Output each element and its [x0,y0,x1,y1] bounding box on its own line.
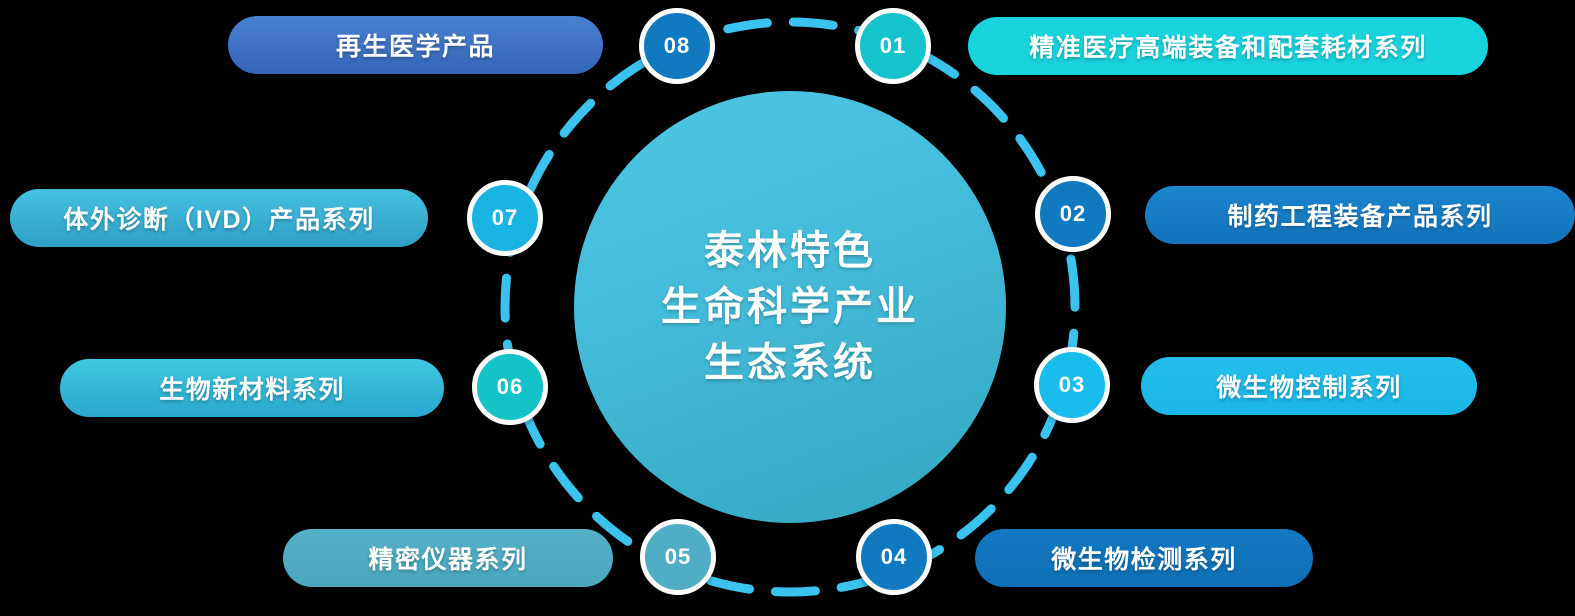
node-05-number: 05 [665,544,691,570]
node-08-number: 08 [664,33,690,59]
pill-04[interactable]: 微生物检测系列 [975,529,1313,587]
center-line-2: 生命科学产业 [661,286,919,328]
pill-06[interactable]: 生物新材料系列 [60,359,444,417]
pill-08[interactable]: 再生医学产品 [228,16,603,74]
pill-03-label: 微生物控制系列 [1216,368,1402,404]
node-03[interactable]: 03 [1034,347,1110,423]
node-04-number: 04 [881,544,907,570]
node-06-number: 06 [497,374,523,400]
center-circle: 泰林特色 生命科学产业 生态系统 [574,91,1006,523]
node-06[interactable]: 06 [472,349,548,425]
node-02-number: 02 [1060,201,1086,227]
node-04[interactable]: 04 [856,519,932,595]
node-01-number: 01 [880,33,906,59]
node-05[interactable]: 05 [640,519,716,595]
pill-07[interactable]: 体外诊断（IVD）产品系列 [10,189,428,247]
node-08[interactable]: 08 [639,8,715,84]
pill-01[interactable]: 精准医疗高端装备和配套耗材系列 [968,17,1488,75]
pill-01-label: 精准医疗高端装备和配套耗材系列 [1029,28,1427,64]
pill-06-label: 生物新材料系列 [159,370,345,406]
pill-08-label: 再生医学产品 [336,27,495,63]
node-07[interactable]: 07 [467,180,543,256]
pill-03[interactable]: 微生物控制系列 [1141,357,1477,415]
pill-05[interactable]: 精密仪器系列 [283,529,613,587]
node-03-number: 03 [1059,372,1085,398]
pill-04-label: 微生物检测系列 [1051,540,1237,576]
node-02[interactable]: 02 [1035,176,1111,252]
pill-05-label: 精密仪器系列 [368,540,527,576]
pill-02-label: 制药工程装备产品系列 [1227,197,1492,233]
pill-02[interactable]: 制药工程装备产品系列 [1145,186,1575,244]
center-line-3: 生态系统 [704,342,876,384]
ecosystem-diagram: 泰林特色 生命科学产业 生态系统 01 02 03 04 05 06 07 08… [0,0,1575,616]
center-line-1: 泰林特色 [704,230,876,272]
pill-07-label: 体外诊断（IVD）产品系列 [63,200,374,236]
node-07-number: 07 [492,205,518,231]
node-01[interactable]: 01 [855,8,931,84]
